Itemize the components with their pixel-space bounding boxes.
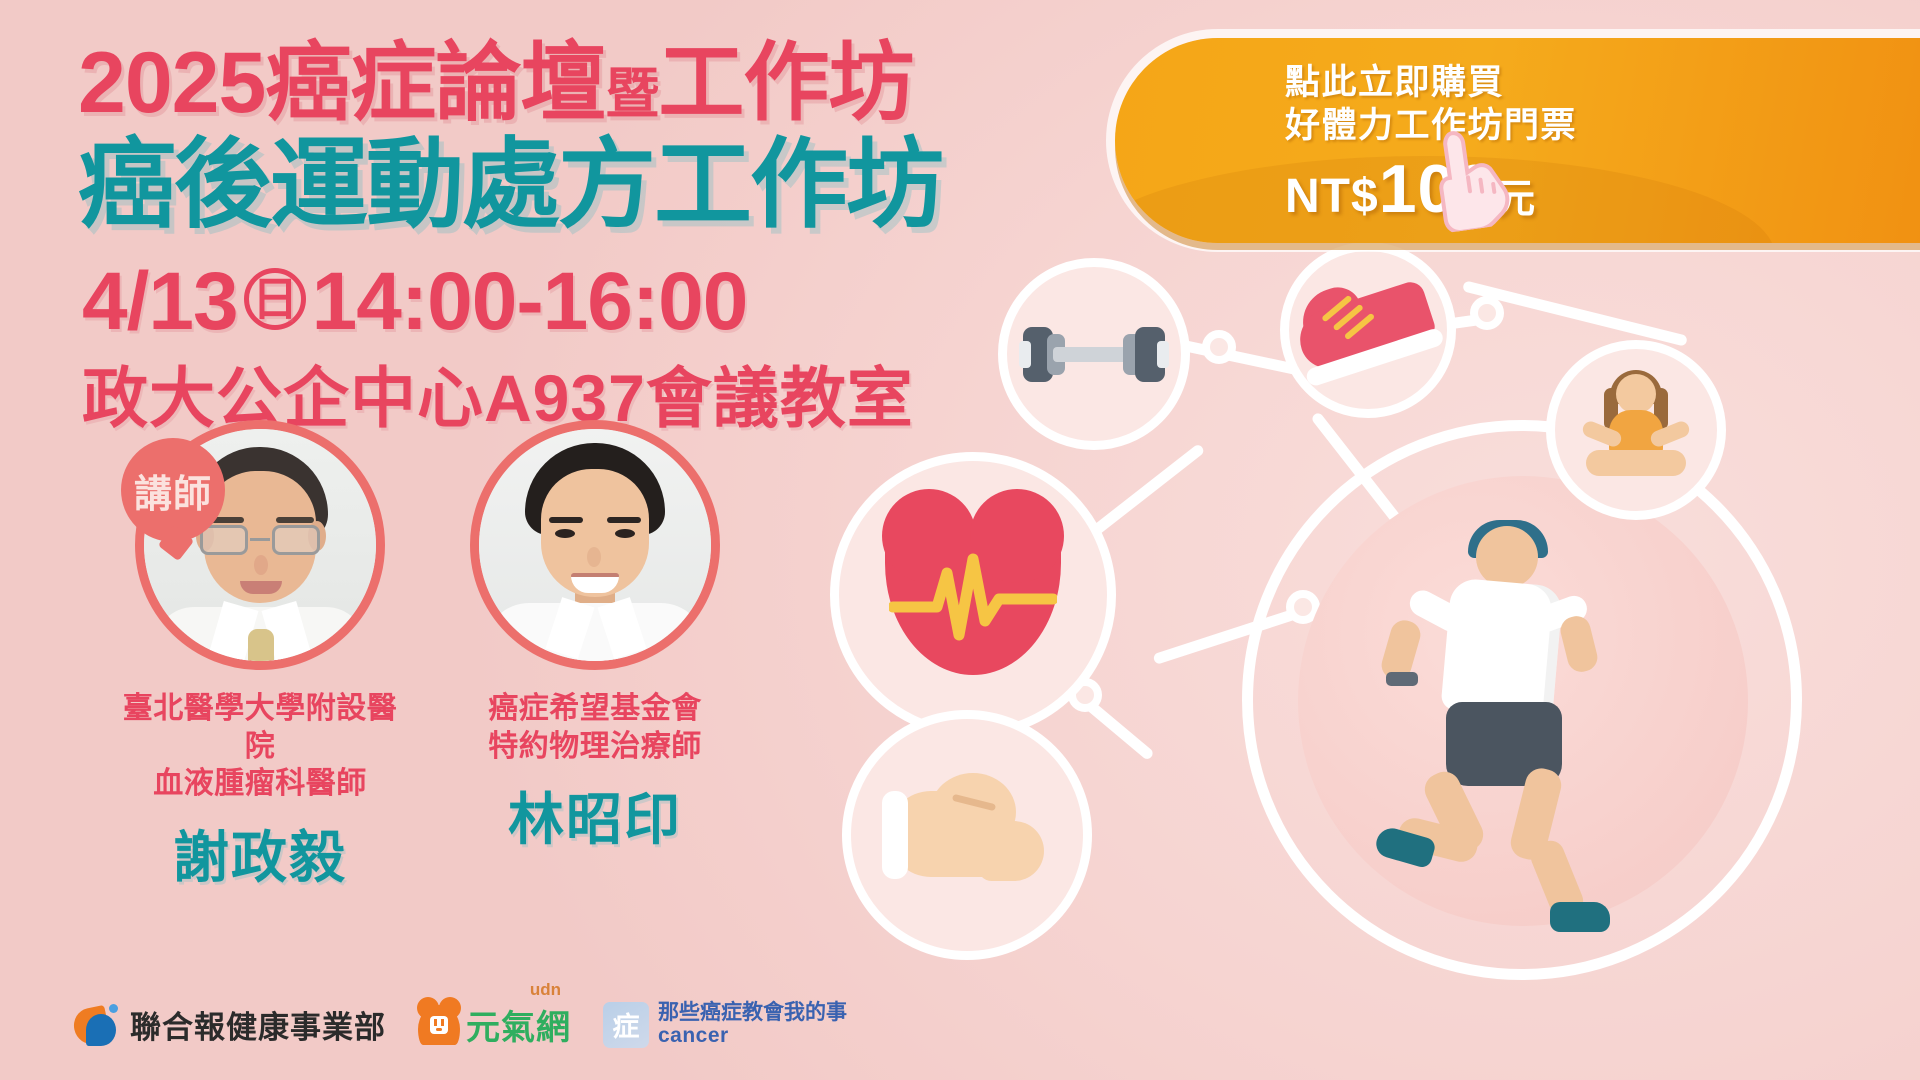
avatar (479, 429, 711, 661)
runner-icon (1350, 520, 1670, 940)
ticket-price: NT$100元 (1285, 150, 1920, 228)
title-part-b: 工作坊 (658, 35, 913, 131)
speaker-affiliation-2: 癌症希望基金會 特約物理治療師 (450, 690, 740, 765)
orange-heart-icon (418, 1005, 460, 1045)
day-of-week-badge: 日 (244, 268, 306, 330)
logo-yuanqi-label: 元氣網 (466, 1000, 571, 1049)
shoe-node (1280, 242, 1456, 418)
speaker-card: 講師 (115, 420, 405, 894)
left-content: 2025癌症論壇暨工作坊 癌後運動處方工作坊 4/13日14:00-16:00 … (0, 0, 1080, 1080)
yoga-icon (1576, 370, 1696, 490)
speaker-name-2: 林昭印 (450, 775, 740, 856)
logo-udn-health: 聯合報健康事業部 (74, 1002, 386, 1048)
logo-cancer-label: 那些癌症教會我的事 cancer (658, 1002, 847, 1047)
speaker-name-1: 謝政毅 (115, 813, 405, 894)
speaker-affiliation-1: 臺北醫學大學附設醫院 血液腫瘤科醫師 (115, 690, 405, 803)
logo-cancer-label-en: cancer (658, 1024, 729, 1047)
page-title-line2: 癌後運動處方工作坊 (78, 135, 942, 233)
cancer-badge-icon: 症 (603, 1002, 649, 1048)
exercise-illustration (950, 230, 1920, 1080)
logo-cancer-label-zh: 那些癌症教會我的事 (658, 1001, 847, 1024)
udn-droplet-icon (74, 1002, 120, 1048)
cta-line-2: 好體力工作坊門票 (1285, 105, 1920, 148)
cta-line-1: 點此立即購買 (1285, 62, 1920, 105)
logo-udn-health-label: 聯合報健康事業部 (130, 1002, 386, 1047)
pointing-hand-icon (1421, 120, 1521, 235)
event-datetime: 4/13日14:00-16:00 (82, 255, 747, 349)
title-part-small: 暨 (605, 64, 658, 124)
title-part-a: 2025癌症論壇 (78, 35, 605, 131)
affiliation-line-2: 血液腫瘤科醫師 (115, 765, 405, 803)
affiliation-line-2: 特約物理治療師 (450, 728, 740, 766)
speaker-photo-2 (470, 420, 720, 670)
junction-node (1202, 330, 1236, 364)
promo-banner: 點此立即購買 好體力工作坊門票 NT$100元 2025癌症論壇暨工作坊 癌後運… (0, 0, 1920, 1080)
logo-yuanqi-superscript: udn (530, 980, 561, 1000)
partner-logos: 聯合報健康事業部 元氣網 udn 症 那些癌症教會我的事 cancer (74, 1000, 847, 1049)
page-title-line1: 2025癌症論壇暨工作坊 (78, 40, 913, 128)
logo-cancer-lessons: 症 那些癌症教會我的事 cancer (603, 1002, 847, 1048)
affiliation-line-1: 癌症希望基金會 (450, 690, 740, 728)
yoga-node (1546, 340, 1726, 520)
running-shoe-icon (1280, 255, 1457, 406)
logo-yuanqi: 元氣網 udn (418, 1000, 571, 1049)
lecturer-badge: 講師 (121, 438, 225, 542)
event-date: 4/13 (82, 256, 238, 347)
affiliation-line-1: 臺北醫學大學附設醫院 (115, 690, 405, 765)
currency-label: NT$ (1285, 170, 1379, 223)
junction-node (1470, 296, 1504, 330)
speaker-card: 癌症希望基金會 特約物理治療師 林昭印 (450, 420, 740, 856)
event-time: 14:00-16:00 (312, 256, 748, 347)
